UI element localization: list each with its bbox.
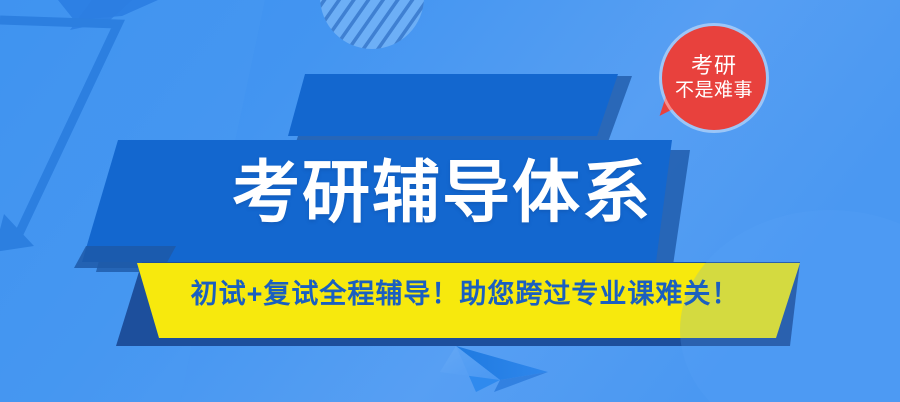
banner-subheadline: 初试+复试全程辅导！助您跨过专业课难关！ [150, 272, 780, 311]
plate-upper [288, 74, 618, 136]
promo-banner: 考研辅导体系 初试+复试全程辅导！助您跨过专业课难关！ 考研 不是难事 [0, 0, 900, 402]
headline-container: 考研辅导体系 [232, 152, 692, 234]
badge-line-2: 不是难事 [675, 79, 753, 104]
badge-line-1: 考研 [691, 52, 737, 80]
speech-bubble-badge: 考研 不是难事 [662, 26, 766, 130]
banner-headline: 考研辅导体系 [232, 159, 652, 227]
speech-bubble-text: 考研 不是难事 [662, 26, 766, 130]
